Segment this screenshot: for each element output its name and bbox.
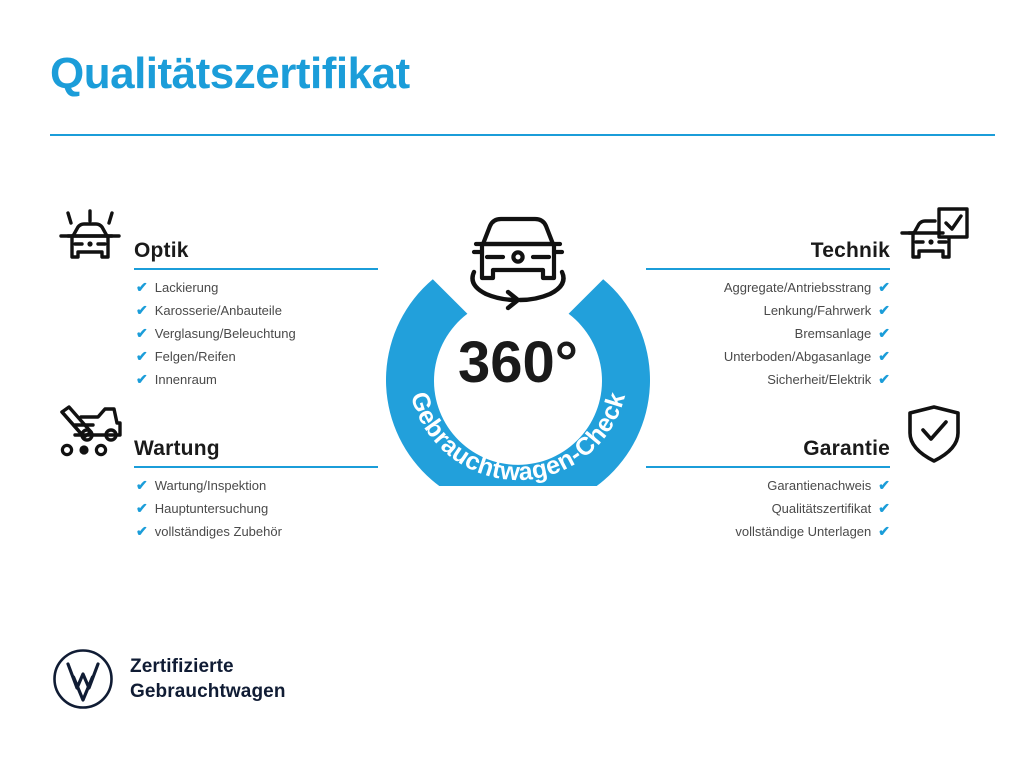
check-icon: ✔: [136, 474, 148, 497]
section-header: Wartung: [48, 398, 378, 474]
section-title-wrap: Garantie: [646, 437, 890, 468]
check-icon: ✔: [878, 322, 890, 345]
check-icon: ✔: [878, 368, 890, 391]
section-underline: [134, 466, 378, 468]
section-header: Garantie: [646, 398, 976, 474]
check-icon: ✔: [878, 520, 890, 543]
check-icon: ✔: [878, 276, 890, 299]
vw-footer-text: Zertifizierte Gebrauchtwagen: [130, 654, 286, 704]
list-item: Unterboden/Abgasanlage✔: [646, 345, 890, 368]
check-icon: ✔: [136, 497, 148, 520]
list-item: Lenkung/Fahrwerk✔: [646, 299, 890, 322]
section-underline: [646, 268, 890, 270]
list-item-label: Felgen/Reifen: [155, 345, 236, 368]
check-icon: ✔: [136, 345, 148, 368]
list-item-label: Karosserie/Anbauteile: [155, 299, 282, 322]
list-item: ✔Lackierung: [136, 276, 378, 299]
list-item-label: Aggregate/Antriebsstrang: [724, 276, 871, 299]
section-title: Garantie: [646, 437, 890, 466]
section-garantie: Garantie Garantienachweis✔ Qualitätszert…: [646, 398, 976, 543]
list-item: Aggregate/Antriebsstrang✔: [646, 276, 890, 299]
list-item-label: Unterboden/Abgasanlage: [724, 345, 871, 368]
section-header: Technik: [646, 200, 976, 276]
list-item: Sicherheit/Elektrik✔: [646, 368, 890, 391]
car-service-pen-icon: [48, 398, 132, 470]
vw-certified-footer: Zertifizierte Gebrauchtwagen: [52, 648, 286, 710]
badge-360-gebrauchtwagen-check: Gebrauchtwagen-Check 360°: [372, 186, 664, 486]
list-item-label: Wartung/Inspektion: [155, 474, 267, 497]
badge-value: 360°: [458, 330, 578, 395]
checklist-technik: Aggregate/Antriebsstrang✔ Lenkung/Fahrwe…: [646, 276, 890, 391]
check-icon: ✔: [878, 345, 890, 368]
section-underline: [646, 466, 890, 468]
section-title-wrap: Technik: [646, 239, 890, 270]
check-icon: ✔: [136, 368, 148, 391]
check-icon: ✔: [878, 299, 890, 322]
list-item-label: Innenraum: [155, 368, 217, 391]
section-title: Technik: [646, 239, 890, 268]
checklist-wartung: ✔Wartung/Inspektion ✔Hauptuntersuchung ✔…: [136, 474, 378, 543]
list-item: ✔Verglasung/Beleuchtung: [136, 322, 378, 345]
car-front-lights-icon: [48, 200, 132, 272]
list-item: ✔Innenraum: [136, 368, 378, 391]
list-item: ✔Wartung/Inspektion: [136, 474, 378, 497]
shield-check-icon: [892, 398, 976, 470]
list-item-label: Sicherheit/Elektrik: [767, 368, 871, 391]
list-item: ✔vollständiges Zubehör: [136, 520, 378, 543]
list-item-label: Qualitätszertifikat: [772, 497, 872, 520]
section-title: Optik: [134, 239, 378, 268]
vw-footer-line2: Gebrauchtwagen: [130, 679, 286, 704]
page-title: Qualitätszertifikat: [50, 52, 410, 96]
section-header: Optik: [48, 200, 378, 276]
list-item: Qualitätszertifikat✔: [646, 497, 890, 520]
list-item-label: vollständige Unterlagen: [735, 520, 871, 543]
title-divider: [50, 134, 995, 136]
section-title: Wartung: [134, 437, 378, 466]
list-item-label: Bremsanlage: [795, 322, 872, 345]
check-icon: ✔: [878, 474, 890, 497]
list-item-label: vollständiges Zubehör: [155, 520, 282, 543]
checklist-garantie: Garantienachweis✔ Qualitätszertifikat✔ v…: [646, 474, 890, 543]
check-icon: ✔: [136, 322, 148, 345]
list-item-label: Lenkung/Fahrwerk: [764, 299, 872, 322]
check-icon: ✔: [136, 520, 148, 543]
list-item: Garantienachweis✔: [646, 474, 890, 497]
section-wartung: Wartung ✔Wartung/Inspektion ✔Hauptunters…: [48, 398, 378, 543]
list-item-label: Verglasung/Beleuchtung: [155, 322, 296, 345]
check-icon: ✔: [878, 497, 890, 520]
list-item: ✔Felgen/Reifen: [136, 345, 378, 368]
checklist-optik: ✔Lackierung ✔Karosserie/Anbauteile ✔Verg…: [136, 276, 378, 391]
section-optik: Optik ✔Lackierung ✔Karosserie/Anbauteile…: [48, 200, 378, 391]
list-item: vollständige Unterlagen✔: [646, 520, 890, 543]
vw-logo: [52, 648, 114, 710]
car-rotate-icon: [473, 219, 564, 308]
list-item-label: Hauptuntersuchung: [155, 497, 268, 520]
list-item: ✔Hauptuntersuchung: [136, 497, 378, 520]
check-icon: ✔: [136, 299, 148, 322]
section-title-wrap: Wartung: [134, 437, 378, 468]
list-item-label: Garantienachweis: [767, 474, 871, 497]
section-title-wrap: Optik: [134, 239, 378, 270]
list-item-label: Lackierung: [155, 276, 219, 299]
car-checkbox-icon: [892, 200, 976, 272]
list-item: ✔Karosserie/Anbauteile: [136, 299, 378, 322]
check-icon: ✔: [136, 276, 148, 299]
section-technik: Technik Aggregate/Antriebsstrang✔ Lenkun…: [646, 200, 976, 391]
list-item: Bremsanlage✔: [646, 322, 890, 345]
section-underline: [134, 268, 378, 270]
vw-footer-line1: Zertifizierte: [130, 654, 286, 679]
